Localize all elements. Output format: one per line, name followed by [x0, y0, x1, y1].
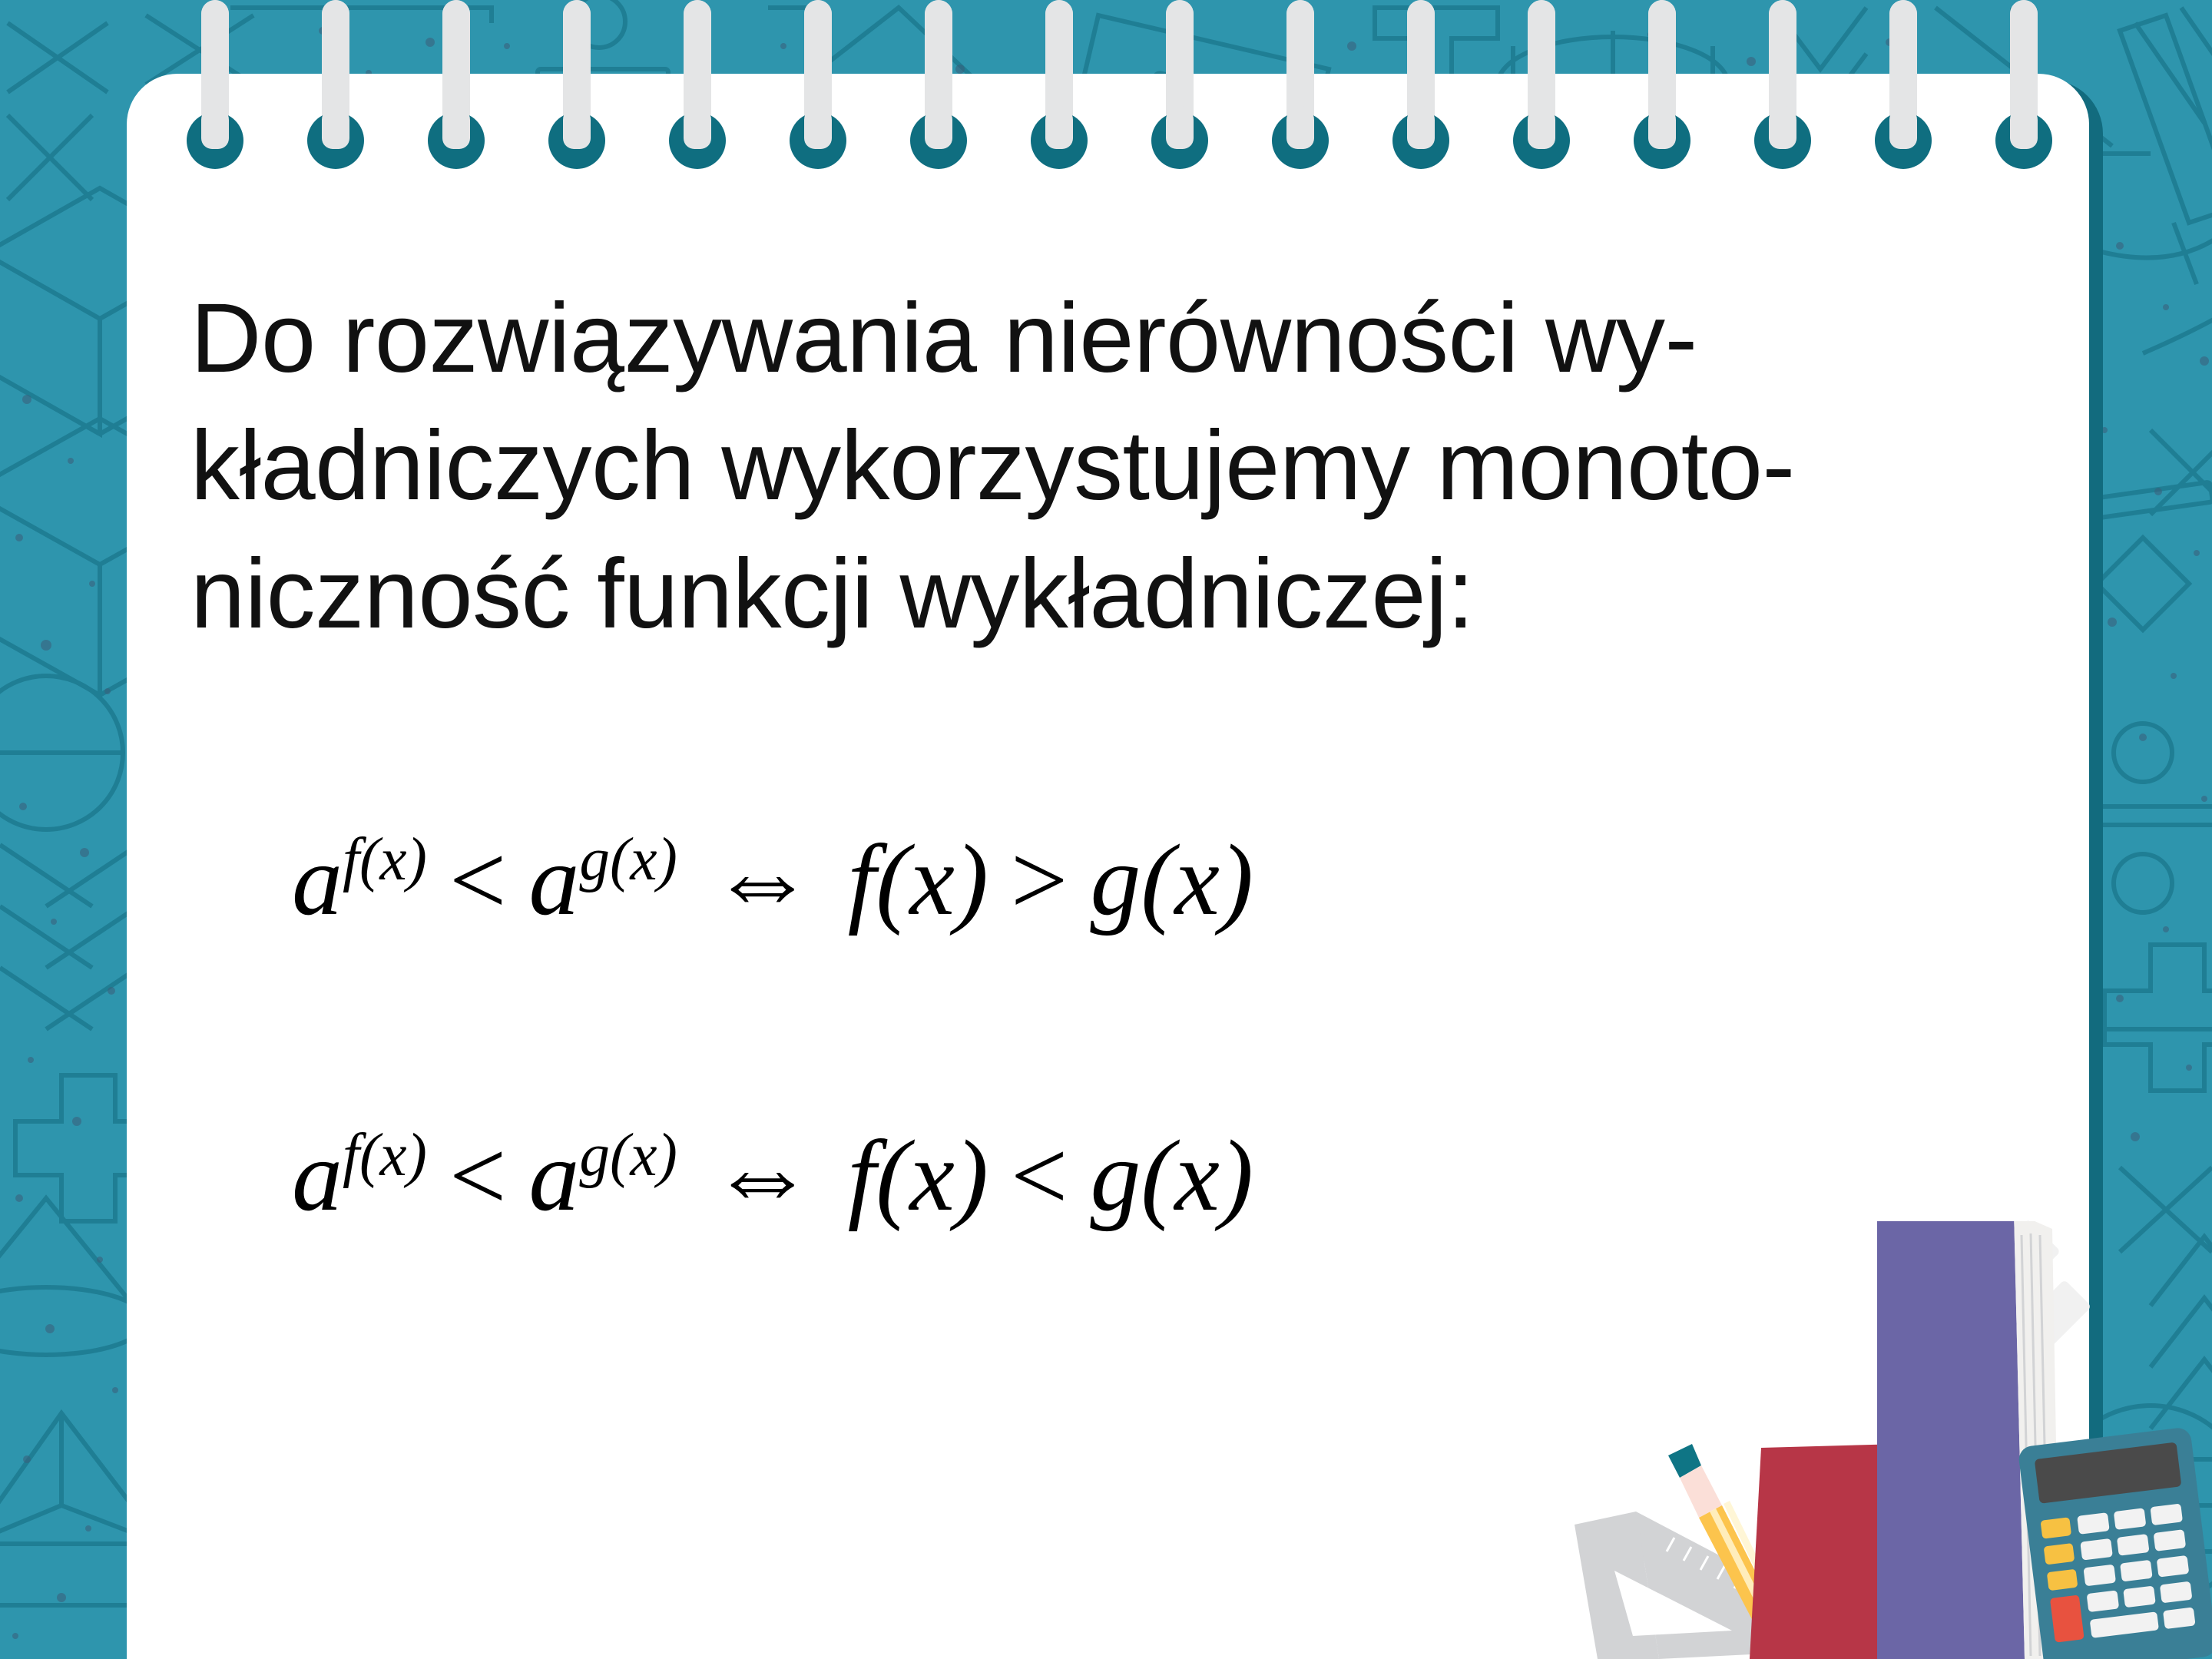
- ring-hook: [1031, 112, 1088, 169]
- ring-cap: [804, 0, 832, 31]
- ring-cap: [1166, 0, 1194, 31]
- ring-cap: [684, 0, 711, 31]
- formula-1-base-left: a: [292, 823, 343, 936]
- formula-1-rel-left: <: [427, 823, 529, 936]
- title-line-2: kładniczych wykorzystujemy monoto-: [190, 402, 2003, 530]
- formula-2-rel-result: <: [988, 1119, 1091, 1232]
- ring-cap: [201, 0, 229, 31]
- ring-hook: [307, 112, 364, 169]
- ring-hook: [428, 112, 485, 169]
- ring-cap: [563, 0, 591, 31]
- ring-hook: [1272, 112, 1329, 169]
- ring-cap: [1528, 0, 1555, 31]
- formula-2-base-left: a: [292, 1119, 343, 1232]
- ring-hook: [548, 112, 605, 169]
- math-formula-1: af(x)<ag(x)⇔f(x)>g(x): [292, 816, 1253, 939]
- ring-hook: [1754, 112, 1811, 169]
- spiral-binding: [0, 0, 2212, 230]
- ring-cap: [2010, 0, 2038, 31]
- ring-cap: [442, 0, 470, 31]
- ring-cap: [925, 0, 952, 31]
- math-formula-2: af(x)<ag(x)⇔f(x)<g(x): [292, 1112, 1253, 1235]
- ring-cap: [1045, 0, 1073, 31]
- formula-1-base-right: a: [528, 823, 579, 936]
- formula-1-exp-right: g(x): [579, 826, 677, 893]
- ring-hook: [1995, 112, 2052, 169]
- formula-2-rel-left: <: [427, 1119, 529, 1232]
- formula-2-lhs-fn: f(x): [848, 1119, 988, 1232]
- formula-2-exp-left: f(x): [343, 1121, 427, 1189]
- formula-2-base-right: a: [528, 1119, 579, 1232]
- ring-hook: [1392, 112, 1449, 169]
- ring-cap: [322, 0, 349, 31]
- ring-cap: [1648, 0, 1676, 31]
- formula-1-lhs-fn: f(x): [848, 823, 988, 936]
- formula-1-rhs-fn: g(x): [1090, 823, 1253, 936]
- ring-hook: [1151, 112, 1208, 169]
- ring-hook: [910, 112, 967, 169]
- title-line-3: niczność funkcji wykładniczej:: [190, 531, 2003, 658]
- formula-2-iff-icon: ⇔: [677, 1114, 848, 1233]
- ring-cap: [1889, 0, 1917, 31]
- ring-hook: [790, 112, 846, 169]
- formula-1-iff-icon: ⇔: [677, 819, 848, 937]
- ring-hook: [1875, 112, 1932, 169]
- formula-1-rel-result: >: [988, 823, 1091, 936]
- ring-cap: [1286, 0, 1314, 31]
- title-line-1: Do rozwiązywania nierówności wy-: [190, 275, 2003, 402]
- formula-1-exp-left: f(x): [343, 826, 427, 893]
- formula-2-exp-right: g(x): [579, 1121, 677, 1189]
- ring-cap: [1407, 0, 1435, 31]
- slide-canvas: Do rozwiązywania nierówności wy- kładnic…: [0, 0, 2212, 1659]
- formula-2-rhs-fn: g(x): [1090, 1119, 1253, 1232]
- ring-hook: [187, 112, 243, 169]
- ring-cap: [1769, 0, 1796, 31]
- ring-hook: [669, 112, 726, 169]
- ring-hook: [1513, 112, 1570, 169]
- ring-hook: [1634, 112, 1690, 169]
- page-title: Do rozwiązywania nierówności wy- kładnic…: [190, 275, 2003, 658]
